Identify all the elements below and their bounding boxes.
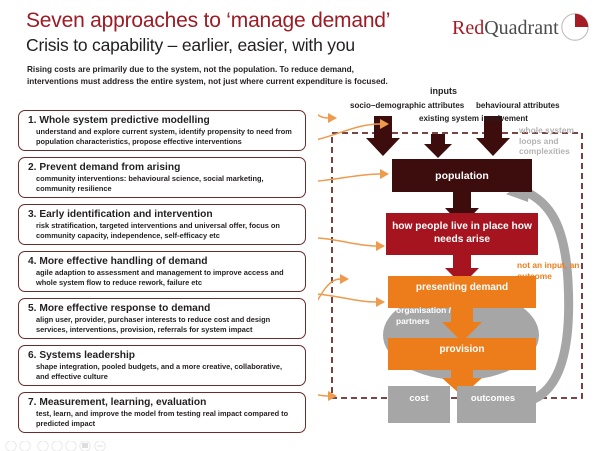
strip-icon-7-glyph: [97, 445, 103, 446]
system-diagram: inputs socio–demographic attributes beha…: [318, 86, 602, 451]
connector-4-path: [318, 237, 376, 246]
approach-box-1[interactable]: 1. Whole system predictive modelling und…: [18, 110, 306, 151]
organisation-partners-label: organisation / partners: [396, 305, 458, 326]
strip-icon-4-circle: [52, 441, 62, 451]
approach-heading: 7. Measurement, learning, evaluation: [28, 397, 297, 409]
strip-icon-5-circle: [66, 441, 76, 451]
population-node-rect: [392, 159, 532, 192]
connector-arrowheads-group: [328, 113, 389, 401]
provision-node-rect: [388, 338, 536, 370]
strip-icon-1-circle: [6, 441, 16, 451]
approach-detail: understand and explore current system, i…: [28, 127, 297, 146]
strip-icon-3-circle: [38, 441, 48, 451]
socio-demographic-label: socio–demographic attributes: [350, 101, 464, 110]
approach-heading: 2. Prevent demand from arising: [28, 162, 297, 174]
approach-detail: agile adaption to assessment and managem…: [28, 268, 297, 287]
cost-node-rect: [388, 386, 450, 423]
approach-box-2[interactable]: 2. Prevent demand from arising community…: [18, 157, 306, 198]
approach-detail: risk stratification, targeted interventi…: [28, 221, 297, 240]
connector-7-path: [318, 391, 328, 396]
approach-heading: 6. Systems leadership: [28, 350, 297, 362]
approach-box-6[interactable]: 6. Systems leadership shape integration,…: [18, 345, 306, 386]
approach-box-4[interactable]: 4. More effective handling of demand agi…: [18, 251, 306, 292]
connector-1-arrowhead: [328, 113, 337, 123]
connector-3-path: [318, 174, 380, 182]
existing-system-input-arrow: [424, 134, 452, 158]
outcomes-node-rect: [457, 386, 536, 423]
whole-system-loops-label: whole system loops and complexities: [519, 125, 589, 157]
bottom-icon-strip[interactable]: [4, 441, 134, 451]
existing-system-label: existing system involvement: [419, 114, 528, 124]
how-people-node-rect: [386, 213, 538, 255]
approach-detail: test, learn, and improve the model from …: [28, 409, 297, 428]
behavioural-attributes-label: behavioural attributes: [476, 101, 560, 110]
strip-icon-6-glyph: [82, 443, 88, 448]
logo-wordmark: RedQuadrant: [452, 16, 559, 40]
connector-6-arrowhead: [376, 297, 385, 307]
connector-1-path: [318, 104, 328, 118]
connector-5-path: [318, 279, 340, 326]
presenting-demand-node-rect: [388, 276, 536, 308]
approach-heading: 1. Whole system predictive modelling: [28, 115, 297, 127]
quadrant-circle-icon: [560, 12, 590, 42]
connector-4-arrowhead: [376, 241, 385, 251]
approaches-list: 1. Whole system predictive modelling und…: [18, 110, 306, 439]
page-title: Seven approaches to ‘manage demand’: [26, 9, 390, 33]
inputs-label: inputs: [430, 86, 457, 96]
connector-3-arrowhead: [380, 169, 389, 179]
strip-icon-2-circle: [20, 441, 30, 451]
connector-6-path: [318, 293, 376, 302]
approach-box-7[interactable]: 7. Measurement, learning, evaluation tes…: [18, 392, 306, 433]
approach-detail: align user, provider, purchaser interest…: [28, 315, 297, 334]
intro-paragraph: Rising costs are primarily due to the sy…: [27, 64, 399, 87]
approach-detail: community interventions: behavioural sci…: [28, 174, 297, 193]
approach-box-3[interactable]: 3. Early identification and intervention…: [18, 204, 306, 245]
logo-text-red: Red: [452, 17, 484, 39]
redquadrant-logo: RedQuadrant: [452, 12, 592, 46]
approach-heading: 5. More effective response to demand: [28, 303, 297, 315]
approach-box-5[interactable]: 5. More effective response to demand ali…: [18, 298, 306, 339]
not-an-input-label: not an input, an outcome: [517, 260, 589, 281]
connector-5-arrowhead: [340, 274, 349, 284]
logo-text-quadrant: Quadrant: [484, 17, 558, 39]
slide-root: Seven approaches to ‘manage demand’ Cris…: [0, 0, 602, 451]
approach-heading: 4. More effective handling of demand: [28, 256, 297, 268]
page-subtitle: Crisis to capability – earlier, easier, …: [26, 35, 355, 56]
approach-detail: shape integration, pooled budgets, and a…: [28, 362, 297, 381]
connector-lines-group: [318, 104, 380, 396]
approach-heading: 3. Early identification and intervention: [28, 209, 297, 221]
